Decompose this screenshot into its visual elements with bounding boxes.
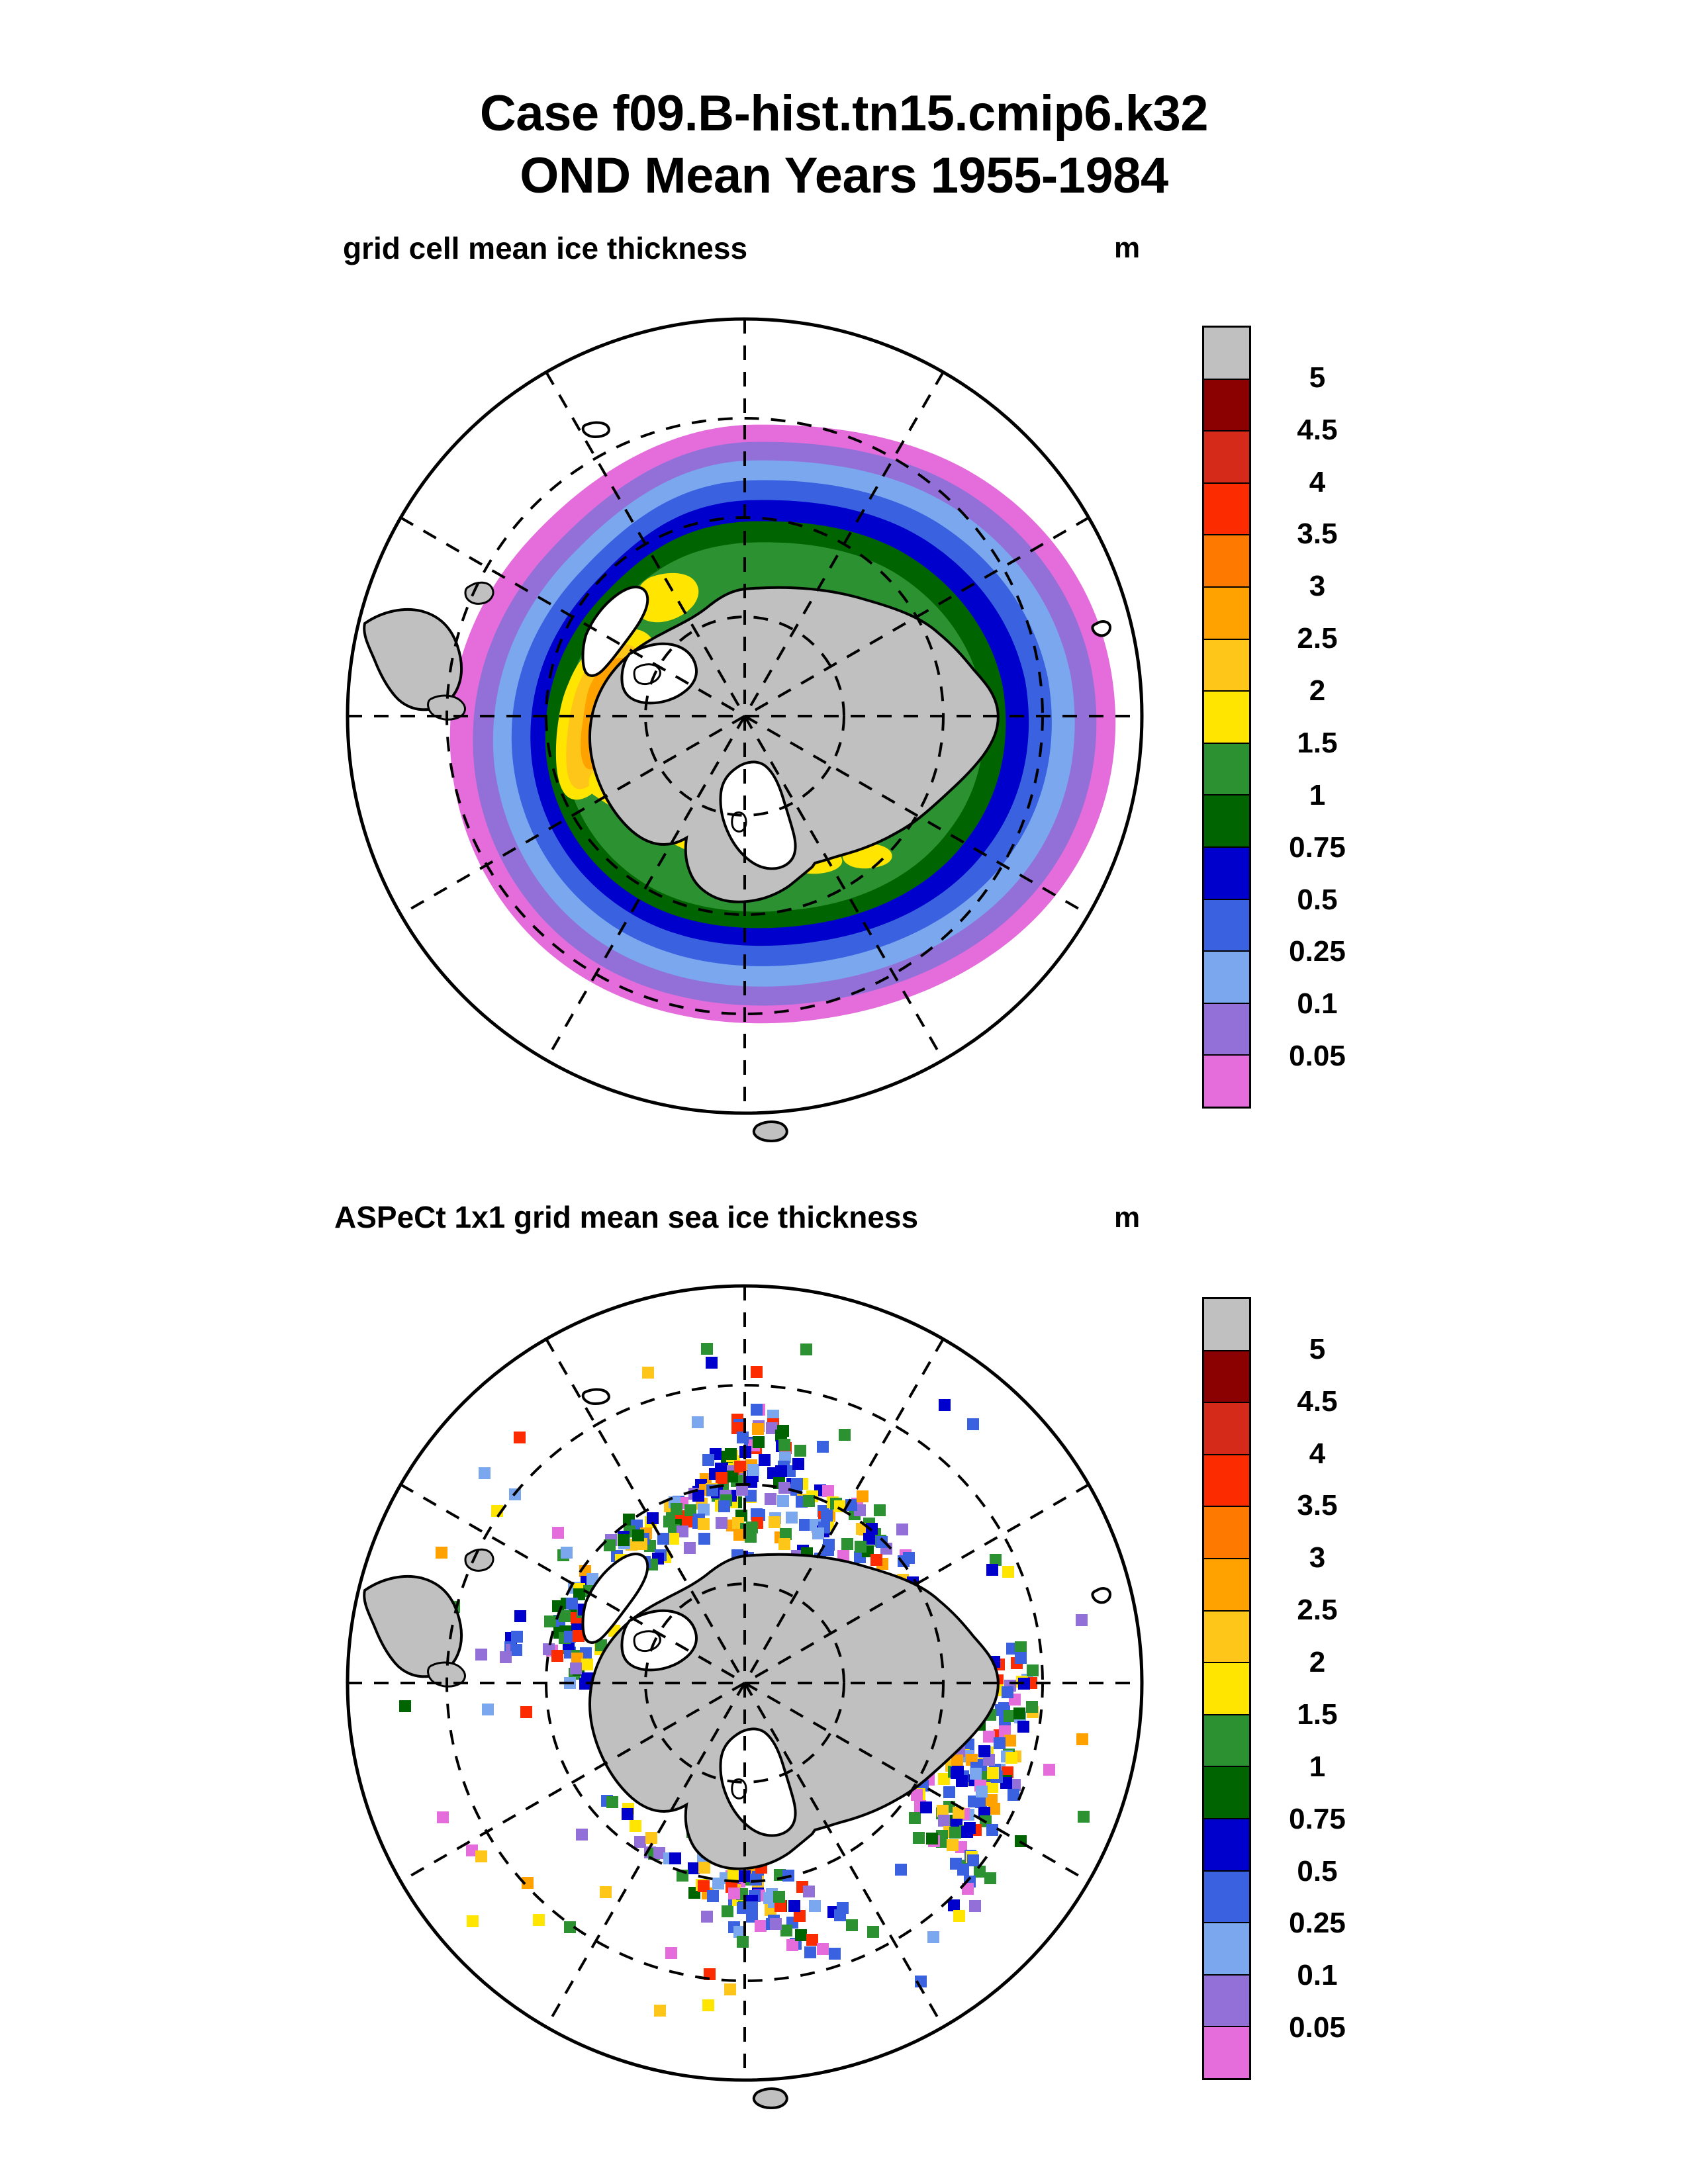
- aspect-grid-cell: [788, 1900, 800, 1912]
- aspect-grid-cell: [976, 1786, 988, 1797]
- panel-model-subtitle: grid cell mean ice thickness: [343, 230, 747, 266]
- aspect-grid-cell: [688, 1862, 700, 1874]
- aspect-grid-cell: [821, 1510, 833, 1522]
- aspect-grid-cell: [857, 1490, 868, 1502]
- colorbar-band-1: [1204, 1351, 1249, 1404]
- aspect-grid-cell: [1017, 1721, 1029, 1733]
- island-south-georgia: [754, 1122, 787, 1141]
- colorbar-tick-label-5: 5: [1258, 1333, 1377, 1366]
- colorbar-band-4: [1204, 1507, 1249, 1559]
- island-heard-aspect: [1092, 1588, 1110, 1602]
- aspect-grid-cell: [803, 1495, 815, 1507]
- aspect-grid-cell: [1002, 1686, 1013, 1698]
- aspect-grid-cell: [702, 1454, 714, 1466]
- aspect-grid-cell: [698, 1518, 710, 1530]
- aspect-grid-cell: [855, 1541, 867, 1553]
- aspect-grid-cell: [953, 1910, 965, 1922]
- aspect-grid-cell: [961, 1826, 973, 1838]
- aspect-grid-cell: [399, 1700, 411, 1712]
- aspect-grid-cell: [701, 1911, 713, 1923]
- aspect-grid-cell: [895, 1864, 907, 1876]
- colorbar-tick-label-0.05: 0.05: [1258, 1040, 1377, 1073]
- colorbar-band-13: [1204, 1976, 1249, 2028]
- aspect-grid-cell: [552, 1527, 564, 1539]
- aspect-grid-cell: [780, 1925, 792, 1936]
- aspect-grid-cell: [952, 1766, 964, 1778]
- colorbar-band-11: [1204, 1872, 1249, 1924]
- aspect-grid-cell: [829, 1948, 841, 1960]
- aspect-grid-cell: [702, 1999, 714, 2011]
- aspect-grid-cell: [511, 1631, 523, 1643]
- colorbar-tick-label-1.5: 1.5: [1258, 1698, 1377, 1731]
- colorbar-band-10: [1204, 1819, 1249, 1872]
- aspect-grid-cell: [834, 1909, 846, 1921]
- aspect-grid-cell: [920, 1801, 932, 1813]
- aspect-grid-cell: [645, 1832, 657, 1844]
- aspect-grid-cell: [812, 1527, 824, 1539]
- panel-aspect-subtitle: ASPeCt 1x1 grid mean sea ice thickness: [334, 1199, 918, 1235]
- colorbar-band-14: [1204, 2027, 1249, 2078]
- colorbar-band-7: [1204, 692, 1249, 744]
- colorbar-aspect-labels: 54.543.532.521.510.750.50.250.10.05: [1258, 1297, 1377, 2080]
- aspect-grid-cell: [707, 1890, 719, 1902]
- aspect-grid-cell: [1027, 1664, 1039, 1676]
- colorbar-band-6: [1204, 1612, 1249, 1664]
- aspect-grid-cell: [724, 1983, 736, 1995]
- aspect-grid-cell: [792, 1458, 804, 1470]
- aspect-grid-cell: [510, 1644, 522, 1656]
- aspect-grid-cell: [970, 1768, 982, 1780]
- aspect-grid-cell: [984, 1872, 996, 1884]
- island-south-sandwich: [583, 423, 609, 437]
- aspect-grid-cell: [737, 1432, 749, 1443]
- colorbar-band-2: [1204, 1403, 1249, 1455]
- aspect-grid-cell: [778, 1482, 790, 1494]
- aspect-grid-cell: [778, 1538, 790, 1550]
- colorbar-tick-label-3.5: 3.5: [1258, 518, 1377, 551]
- panel-aspect-units: m: [1114, 1201, 1140, 1234]
- colorbar-band-5: [1204, 588, 1249, 640]
- aspect-grid-cell: [671, 1503, 682, 1515]
- aspect-grid-cell: [913, 1832, 925, 1844]
- colorbar-tick-label-4.5: 4.5: [1258, 1385, 1377, 1418]
- aspect-grid-cell: [467, 1915, 479, 1927]
- aspect-grid-cell: [716, 1472, 727, 1484]
- aspect-grid-cell: [752, 1423, 764, 1435]
- aspect-grid-cell: [949, 1827, 961, 1839]
- aspect-grid-cell: [544, 1615, 556, 1627]
- colorbar-band-3: [1204, 484, 1249, 536]
- aspect-grid-cell: [701, 1343, 713, 1355]
- colorbar-tick-label-0.25: 0.25: [1258, 1907, 1377, 1940]
- aspect-grid-cell: [994, 1737, 1006, 1749]
- colorbar-band-12: [1204, 952, 1249, 1004]
- colorbar-band-1: [1204, 380, 1249, 432]
- panel-model-units: m: [1114, 232, 1140, 265]
- colorbar-tick-label-1: 1: [1258, 1751, 1377, 1784]
- aspect-grid-cell: [692, 1416, 704, 1428]
- aspect-grid-cell: [716, 1517, 727, 1529]
- aspect-grid-cell: [794, 1445, 806, 1457]
- colorbar-tick-label-0.1: 0.1: [1258, 987, 1377, 1021]
- colorbar-tick-label-4: 4: [1258, 1437, 1377, 1471]
- aspect-grid-cell: [874, 1504, 886, 1516]
- aspect-grid-cell: [896, 1524, 908, 1535]
- island-south-sandwich-aspect: [583, 1390, 609, 1404]
- aspect-grid-cell: [1002, 1566, 1014, 1578]
- colorbar-band-8: [1204, 1715, 1249, 1768]
- aspect-grid-cell: [725, 1448, 737, 1460]
- aspect-grid-cell: [839, 1429, 851, 1441]
- aspect-grid-cell: [561, 1547, 573, 1559]
- aspect-grid-cell: [803, 1886, 815, 1897]
- aspect-grid-cell: [759, 1454, 771, 1466]
- aspect-grid-cell: [804, 1946, 816, 1958]
- aspect-grid-cell: [967, 1418, 979, 1430]
- page-title-line1: Case f09.B-hist.tn15.cmip6.k32: [0, 85, 1688, 142]
- colorbar-tick-label-2.5: 2.5: [1258, 1594, 1377, 1627]
- aspect-grid-cell: [978, 1745, 990, 1757]
- aspect-grid-cell: [500, 1651, 512, 1663]
- aspect-grid-cell: [737, 1936, 749, 1948]
- aspect-grid-cell: [1076, 1733, 1088, 1745]
- aspect-grid-cell: [684, 1542, 696, 1554]
- colorbar-tick-label-0.75: 0.75: [1258, 831, 1377, 864]
- aspect-grid-cell: [809, 1900, 821, 1912]
- aspect-grid-cell: [786, 1512, 798, 1524]
- aspect-grid-cell: [712, 1878, 724, 1889]
- colorbar-band-8: [1204, 744, 1249, 796]
- aspect-grid-cell: [1006, 1752, 1017, 1764]
- aspect-grid-cell: [551, 1650, 563, 1662]
- aspect-grid-cell: [475, 1649, 487, 1661]
- aspect-grid-cell: [943, 1786, 955, 1798]
- aspect-grid-cell: [606, 1796, 618, 1808]
- aspect-grid-cell: [654, 2005, 666, 2017]
- aspect-grid-cell: [728, 1888, 740, 1899]
- colorbar-band-9: [1204, 796, 1249, 848]
- aspect-grid-cell: [806, 1934, 818, 1946]
- aspect-grid-cell: [967, 1854, 979, 1866]
- aspect-grid-cell: [770, 1918, 782, 1930]
- aspect-grid-cell: [817, 1441, 829, 1453]
- colorbar-tick-label-0.05: 0.05: [1258, 2011, 1377, 2044]
- aspect-grid-cell: [737, 1902, 749, 1914]
- colorbar-tick-label-2: 2: [1258, 1646, 1377, 1679]
- aspect-grid-cell: [622, 1808, 633, 1820]
- aspect-grid-cell: [753, 1436, 765, 1448]
- colorbar-tick-label-3.5: 3.5: [1258, 1489, 1377, 1522]
- aspect-grid-cell: [1043, 1764, 1055, 1776]
- aspect-grid-cell: [983, 1731, 995, 1743]
- aspect-grid-cell: [777, 1495, 789, 1507]
- colorbar-band-13: [1204, 1004, 1249, 1056]
- colorbar-tick-label-5: 5: [1258, 361, 1377, 394]
- aspect-grid-cell: [870, 1554, 882, 1566]
- aspect-grid-cell: [947, 1839, 959, 1851]
- colorbar-band-11: [1204, 900, 1249, 952]
- aspect-grid-cell: [750, 1874, 762, 1886]
- aspect-map-svg: [301, 1245, 1188, 2132]
- colorbar-tick-label-4.5: 4.5: [1258, 414, 1377, 447]
- colorbar-band-4: [1204, 535, 1249, 588]
- aspect-grid-cell: [795, 1929, 807, 1941]
- colorbar-tick-label-4: 4: [1258, 466, 1377, 499]
- aspect-grid-cell: [482, 1704, 494, 1715]
- colorbar-band-0: [1204, 1299, 1249, 1351]
- aspect-grid-cell: [581, 1659, 593, 1670]
- aspect-grid-cell: [1015, 1641, 1027, 1653]
- aspect-grid-cell: [841, 1538, 853, 1550]
- aspect-grid-cell: [775, 1465, 787, 1477]
- colorbar-tick-label-1.5: 1.5: [1258, 727, 1377, 760]
- colorbar-band-12: [1204, 1923, 1249, 1976]
- aspect-grid-cell: [822, 1485, 834, 1497]
- aspect-grid-cell: [718, 1500, 730, 1512]
- aspect-grid-cell: [436, 1547, 447, 1559]
- aspect-grid-cell: [765, 1493, 776, 1505]
- aspect-grid-cell: [600, 1886, 612, 1898]
- aspect-grid-cell: [745, 1531, 757, 1543]
- aspect-grid-cell: [778, 1439, 790, 1451]
- aspect-grid-cell: [734, 1461, 746, 1473]
- aspect-grid-cell: [846, 1919, 858, 1931]
- aspect-grid-cell: [1015, 1652, 1027, 1664]
- colorbar-tick-label-0.1: 0.1: [1258, 1959, 1377, 1992]
- colorbar-band-9: [1204, 1767, 1249, 1819]
- colorbar-tick-label-1: 1: [1258, 779, 1377, 812]
- aspect-grid-cell: [698, 1533, 710, 1545]
- aspect-grid-cell: [533, 1914, 545, 1926]
- aspect-grid-cell: [437, 1811, 449, 1823]
- island-south-georgia-aspect: [754, 2089, 787, 2108]
- aspect-grid-cell: [987, 1767, 999, 1779]
- aspect-grid-cell: [817, 1943, 829, 1955]
- aspect-grid-cell: [751, 1366, 763, 1378]
- colorbar-model-labels: 54.543.532.521.510.750.50.250.10.05: [1258, 326, 1377, 1109]
- colorbar-band-14: [1204, 1056, 1249, 1107]
- aspect-grid-cell: [1026, 1701, 1038, 1713]
- aspect-grid-cell: [514, 1432, 526, 1443]
- aspect-grid-cell: [722, 1905, 733, 1917]
- colorbar-band-5: [1204, 1559, 1249, 1612]
- colorbar-tick-label-2.5: 2.5: [1258, 622, 1377, 655]
- aspect-grid-cell: [514, 1610, 526, 1622]
- aspect-grid-cell: [926, 1833, 938, 1844]
- aspect-grid-cell: [909, 1812, 921, 1824]
- aspect-grid-cell: [576, 1829, 588, 1841]
- aspect-grid-cell: [773, 1891, 785, 1903]
- colorbar-band-7: [1204, 1663, 1249, 1715]
- aspect-grid-cell: [632, 1529, 644, 1541]
- colorbar-tick-label-3: 3: [1258, 570, 1377, 603]
- colorbar-band-3: [1204, 1455, 1249, 1508]
- colorbar-band-6: [1204, 640, 1249, 692]
- aspect-grid-cell: [927, 1931, 939, 1943]
- aspect-grid-cell: [769, 1516, 780, 1528]
- map-panel-model: [301, 278, 1188, 1165]
- aspect-grid-cell: [1013, 1707, 1025, 1719]
- map-panel-aspect: [301, 1245, 1188, 2132]
- island-heard: [1092, 621, 1110, 635]
- aspect-grid-cell: [751, 1404, 763, 1416]
- colorbar-aspect: [1202, 1297, 1251, 2080]
- aspect-grid-cell: [939, 1399, 951, 1411]
- aspect-grid-cell: [479, 1467, 491, 1479]
- aspect-grid-cell: [1078, 1811, 1090, 1823]
- aspect-grid-cell: [642, 1367, 654, 1379]
- aspect-grid-cell: [800, 1343, 812, 1355]
- aspect-grid-cell: [706, 1357, 718, 1369]
- aspect-grid-cell: [948, 1899, 960, 1911]
- aspect-grid-cell: [1004, 1735, 1016, 1747]
- aspect-grid-cell: [986, 1824, 998, 1836]
- aspect-grid-cell: [634, 1836, 646, 1848]
- aspect-grid-cell: [669, 1852, 681, 1864]
- model-map-svg: [301, 278, 1188, 1165]
- aspect-grid-cell: [938, 1815, 950, 1827]
- aspect-grid-cell: [777, 1425, 789, 1437]
- colorbar-tick-label-2: 2: [1258, 674, 1377, 707]
- aspect-grid-cell: [969, 1900, 981, 1912]
- aspect-grid-cell: [665, 1947, 677, 1959]
- colorbar-tick-label-0.5: 0.5: [1258, 1855, 1377, 1888]
- aspect-grid-cell: [799, 1519, 811, 1531]
- aspect-grid-cell: [570, 1662, 582, 1674]
- colorbar-tick-label-0.75: 0.75: [1258, 1803, 1377, 1836]
- aspect-grid-cell: [475, 1850, 487, 1862]
- colorbar-model: [1202, 326, 1251, 1109]
- aspect-grid-cell: [698, 1862, 710, 1874]
- aspect-grid-cell: [520, 1706, 532, 1718]
- colorbar-band-10: [1204, 848, 1249, 900]
- colorbar-band-0: [1204, 328, 1249, 380]
- aspect-grid-cell: [630, 1820, 641, 1832]
- figure-root: Case f09.B-hist.tn15.cmip6.k32 OND Mean …: [0, 0, 1688, 2184]
- page-title-line2: OND Mean Years 1955-1984: [0, 147, 1688, 205]
- colorbar-band-2: [1204, 432, 1249, 484]
- aspect-grid-cell: [986, 1564, 998, 1576]
- aspect-grid-cell: [618, 1534, 630, 1546]
- colorbar-tick-label-0.25: 0.25: [1258, 935, 1377, 968]
- aspect-grid-cell: [867, 1926, 879, 1938]
- aspect-grid-cell: [747, 1464, 759, 1476]
- colorbar-tick-label-0.5: 0.5: [1258, 884, 1377, 917]
- aspect-grid-cell: [566, 1598, 578, 1610]
- colorbar-tick-label-3: 3: [1258, 1541, 1377, 1574]
- aspect-grid-cell: [1076, 1614, 1088, 1626]
- aspect-grid-cell: [755, 1920, 767, 1932]
